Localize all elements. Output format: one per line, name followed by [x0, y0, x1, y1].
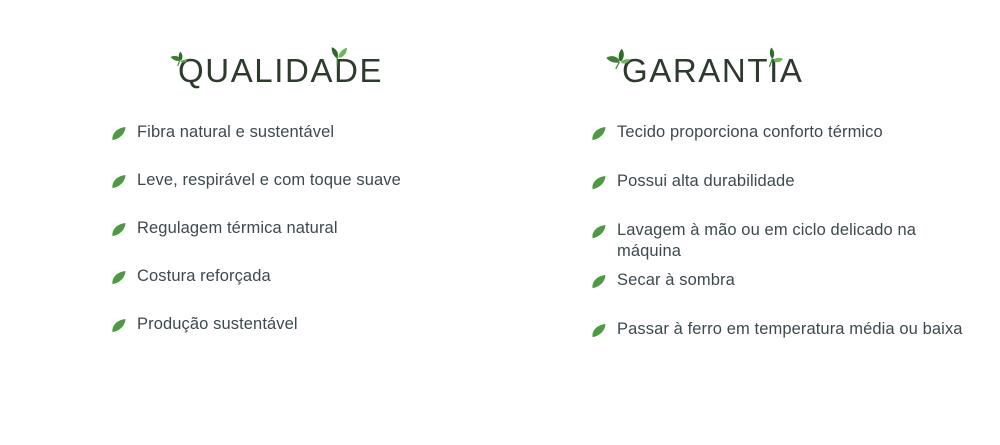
leaf-bullet-icon: [108, 123, 128, 145]
feature-list-qualidade: Fibra natural e sustentável Leve, respir…: [108, 122, 478, 337]
leaf-bullet-icon: [588, 320, 608, 342]
list-item-label: Lavagem à mão ou em ciclo delicado na má…: [617, 220, 978, 262]
list-item: Leve, respirável e com toque suave: [108, 170, 478, 193]
leaf-bullet-icon: [108, 267, 128, 289]
list-item-label: Secar à sombra: [617, 270, 735, 291]
section-title-qualidade: QUALIDADE: [178, 42, 383, 100]
heading-qualidade: QUALIDADE: [178, 42, 383, 100]
heading-garantia: GARANTIA: [622, 42, 804, 100]
leaf-bullet-icon: [588, 123, 608, 145]
list-item: Possui alta durabilidade: [588, 171, 978, 194]
list-item-label: Possui alta durabilidade: [617, 171, 795, 192]
feature-list-garantia: Tecido proporciona conforto térmico Poss…: [588, 122, 978, 350]
list-item: Secar à sombra: [588, 270, 978, 293]
leaf-bullet-icon: [588, 221, 608, 243]
list-item-label: Passar à ferro em temperatura média ou b…: [617, 319, 963, 340]
leaf-bullet-icon: [108, 219, 128, 241]
list-item: Produção sustentável: [108, 314, 478, 337]
list-item-label: Leve, respirável e com toque suave: [137, 170, 401, 191]
list-item-label: Costura reforçada: [137, 266, 271, 287]
list-item-label: Regulagem térmica natural: [137, 218, 338, 239]
leaf-bullet-icon: [108, 171, 128, 193]
list-item-label: Produção sustentável: [137, 314, 298, 335]
list-item: Passar à ferro em temperatura média ou b…: [588, 319, 978, 342]
leaf-bullet-icon: [588, 271, 608, 293]
leaf-bullet-icon: [588, 172, 608, 194]
list-item-label: Tecido proporciona conforto térmico: [617, 122, 883, 143]
list-item: Regulagem térmica natural: [108, 218, 478, 241]
section-title-garantia: GARANTIA: [622, 42, 804, 100]
list-item: Lavagem à mão ou em ciclo delicado na má…: [588, 220, 978, 262]
product-benefits-panel: QUALIDADE Fibra natural e sustentável: [0, 0, 1000, 445]
leaf-bullet-icon: [108, 315, 128, 337]
list-item: Fibra natural e sustentável: [108, 122, 478, 145]
list-item: Costura reforçada: [108, 266, 478, 289]
list-item: Tecido proporciona conforto térmico: [588, 122, 978, 145]
list-item-label: Fibra natural e sustentável: [137, 122, 334, 143]
